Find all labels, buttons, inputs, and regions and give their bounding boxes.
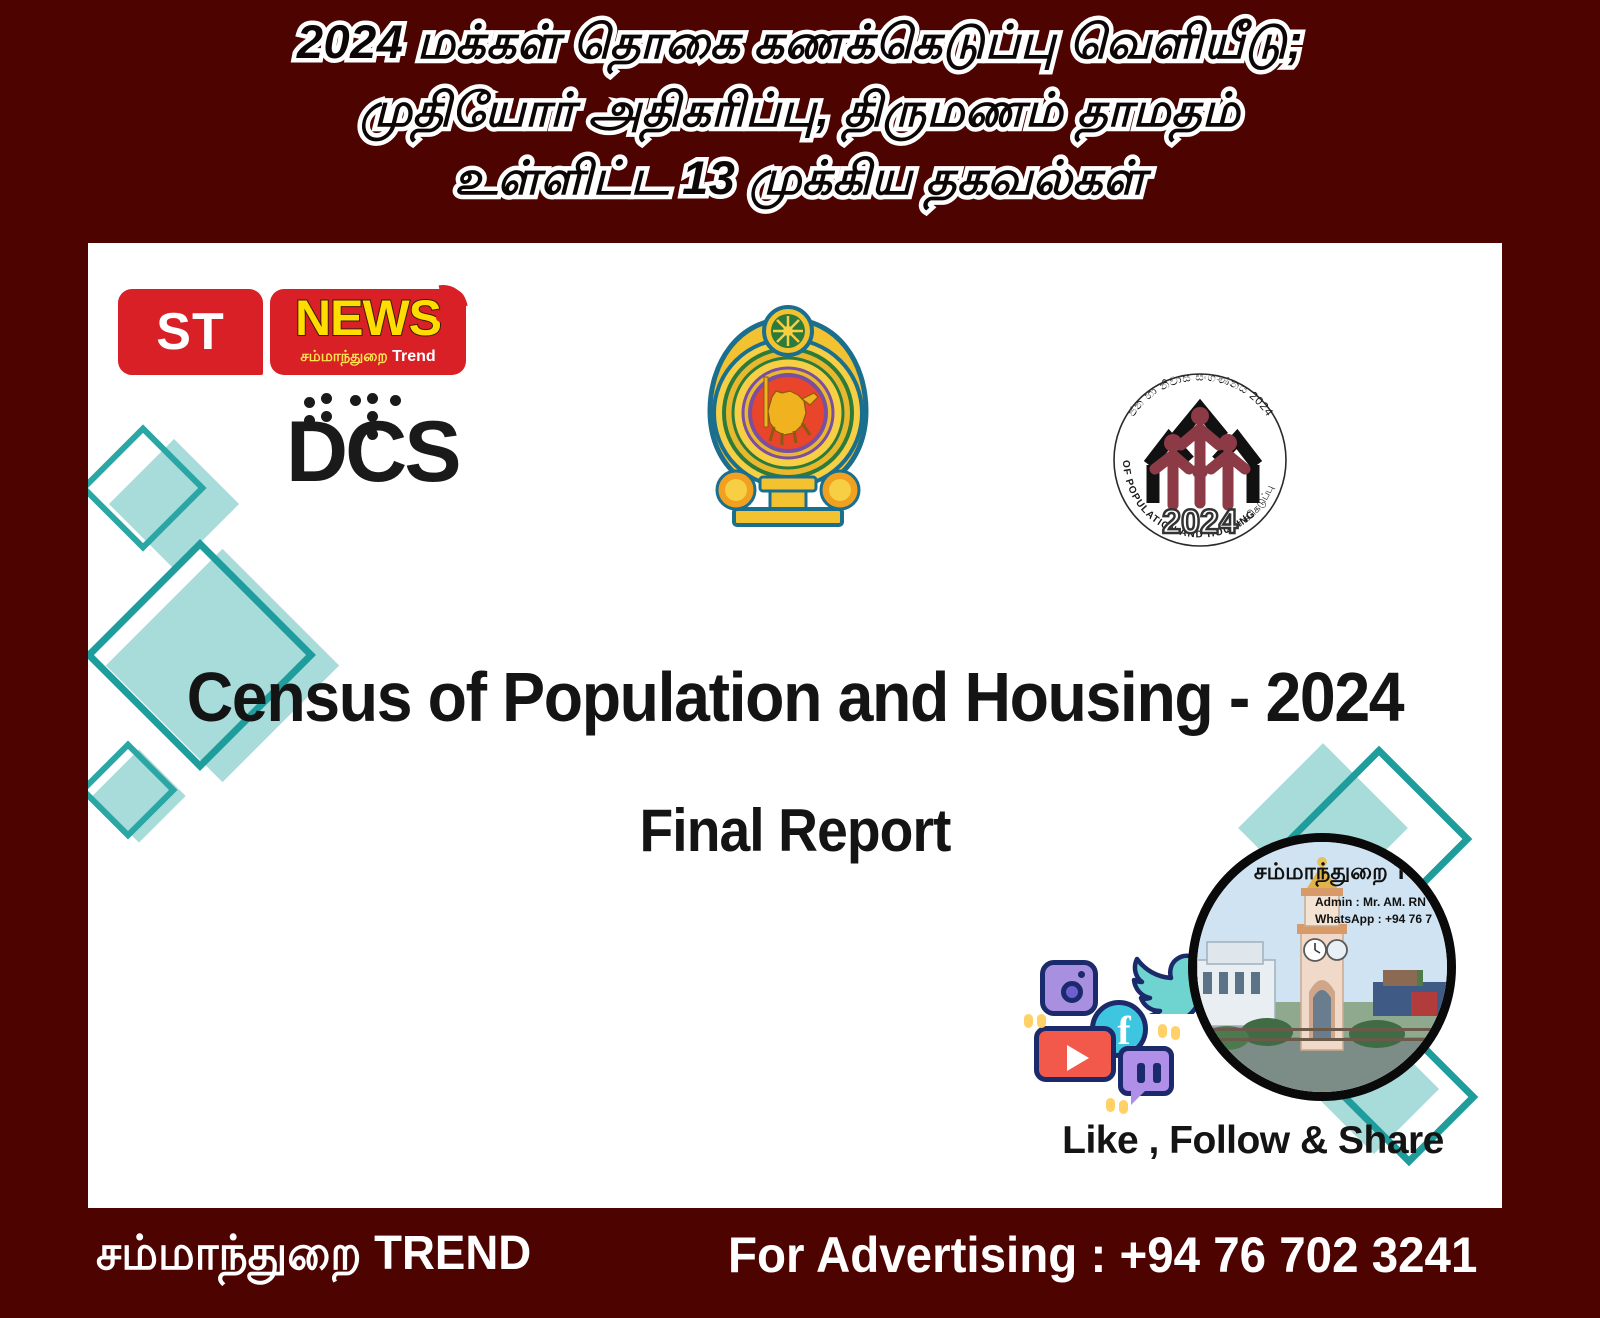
dcs-logo: DCS bbox=[286, 393, 466, 493]
headline-line-2: முதியோர் அதிகரிப்பு, திருமணம் தாமதம் bbox=[0, 76, 1600, 144]
footer-advertising: For Advertising : +94 76 702 3241 bbox=[728, 1226, 1477, 1284]
like-follow-share-text: Like , Follow & Share bbox=[1018, 1119, 1488, 1163]
headline-line-3: உள்ளிட்ட 13 முக்கிய தகவல்கள் bbox=[0, 144, 1600, 212]
youtube-icon[interactable] bbox=[1034, 1026, 1116, 1082]
avatar-admin-line: Admin : Mr. AM. RN bbox=[1315, 894, 1432, 911]
stnews-st-badge: ST bbox=[118, 289, 263, 375]
sri-lanka-emblem-icon bbox=[698, 301, 878, 536]
diamond-decoration-outline bbox=[88, 539, 316, 771]
footer-bar: சம்மாந்துறை TREND For Advertising : +94 … bbox=[0, 1208, 1600, 1318]
channel-avatar-photo: சம்மாந்துறை T Admin : Mr. AM. RN WhatsAp… bbox=[1188, 833, 1456, 1101]
stnews-st-text: ST bbox=[156, 306, 224, 358]
svg-text:2024: 2024 bbox=[1162, 503, 1238, 541]
avatar-whatsapp-line: WhatsApp : +94 76 7 bbox=[1315, 911, 1432, 928]
stnews-subtitle: சம்மாந்துறை Trend bbox=[270, 347, 466, 367]
stnews-subtitle-tamil: சம்மாந்துறை bbox=[300, 348, 387, 365]
cover-main-title: Census of Population and Housing - 2024 bbox=[145, 658, 1446, 736]
stnews-logo: ST NEWS சம்மாந்துறை Trend bbox=[118, 279, 470, 379]
headline-line-1: 2024 மக்கள் தொகை கணக்கெடுப்பு வெளியீடு; bbox=[0, 8, 1600, 76]
headline-block: 2024 மக்கள் தொகை கணக்கெடுப்பு வெளியீடு; … bbox=[0, 8, 1600, 212]
dcs-logo-text: DCS bbox=[286, 409, 459, 495]
census-2024-seal-icon: ජන හා නිවාස සංගණනය 2024 CENSUS OF POPULA… bbox=[1093, 353, 1308, 568]
stnews-subtitle-english: Trend bbox=[392, 348, 436, 365]
avatar-channel-name: சம்மாந்துறை T bbox=[1197, 858, 1456, 888]
footer-brand: சம்மாந்துறை TREND bbox=[96, 1226, 531, 1287]
report-cover-card: ST NEWS சம்மாந்துறை Trend DCS bbox=[88, 243, 1502, 1208]
twitch-icon[interactable] bbox=[1118, 1046, 1174, 1096]
avatar-admin-info: Admin : Mr. AM. RN WhatsApp : +94 76 7 bbox=[1315, 894, 1432, 928]
instagram-icon[interactable] bbox=[1040, 960, 1098, 1016]
